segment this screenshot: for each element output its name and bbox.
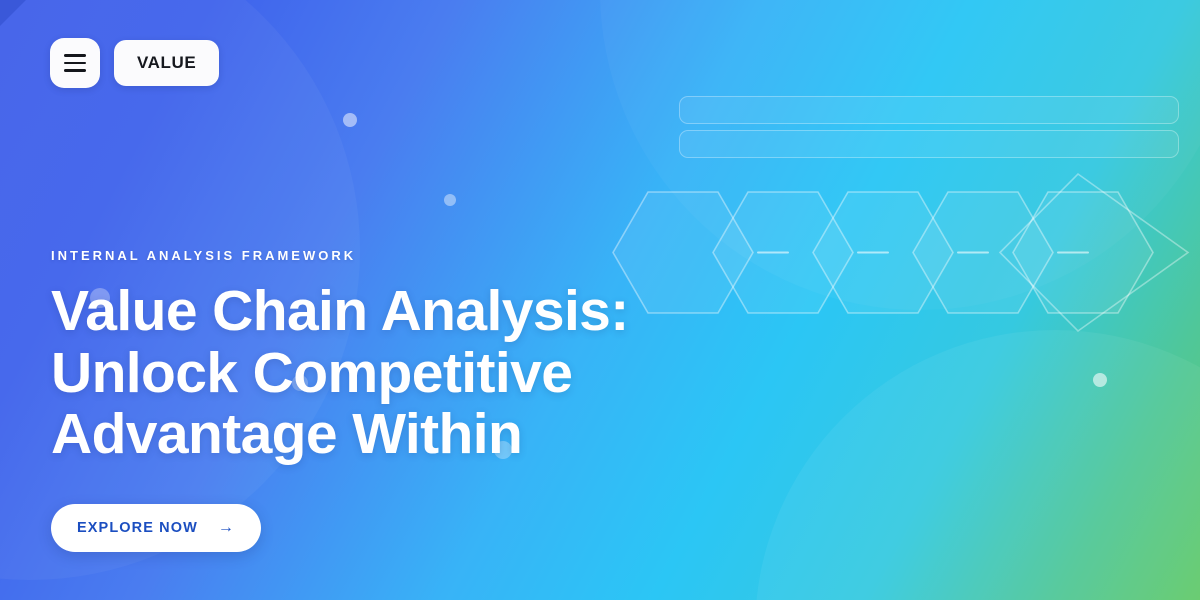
hamburger-menu-icon [64, 54, 86, 57]
hero-banner: VALUE INTERNAL ANALYSIS FRAMEWORK Value … [0, 0, 1200, 600]
hamburger-menu-button[interactable] [50, 38, 100, 88]
hero-content: INTERNAL ANALYSIS FRAMEWORK Value Chain … [51, 248, 691, 552]
hero-headline: Value Chain Analysis: Unlock Competitive… [51, 281, 691, 466]
brand-logo-button[interactable]: VALUE [114, 40, 219, 86]
explore-now-button[interactable]: EXPLORE NOW → [51, 504, 261, 552]
arrow-right-icon: → [218, 520, 235, 536]
headline-line-1: Value Chain Analysis: [51, 279, 629, 343]
headline-line-3: Advantage Within [51, 402, 522, 466]
decorative-dot [1093, 373, 1107, 387]
corner-wedge-shape [0, 0, 26, 26]
decorative-dot [444, 194, 456, 206]
headline-line-2: Unlock Competitive [51, 341, 572, 405]
hamburger-menu-icon [64, 62, 86, 65]
hero-eyebrow: INTERNAL ANALYSIS FRAMEWORK [51, 248, 691, 263]
support-activity-band [679, 130, 1179, 158]
support-activity-band [679, 96, 1179, 124]
background-circle-right [755, 330, 1200, 600]
hamburger-menu-icon [64, 69, 86, 72]
cta-label: EXPLORE NOW [77, 520, 198, 536]
top-navigation-bar: VALUE [50, 38, 219, 88]
decorative-dot [343, 113, 357, 127]
